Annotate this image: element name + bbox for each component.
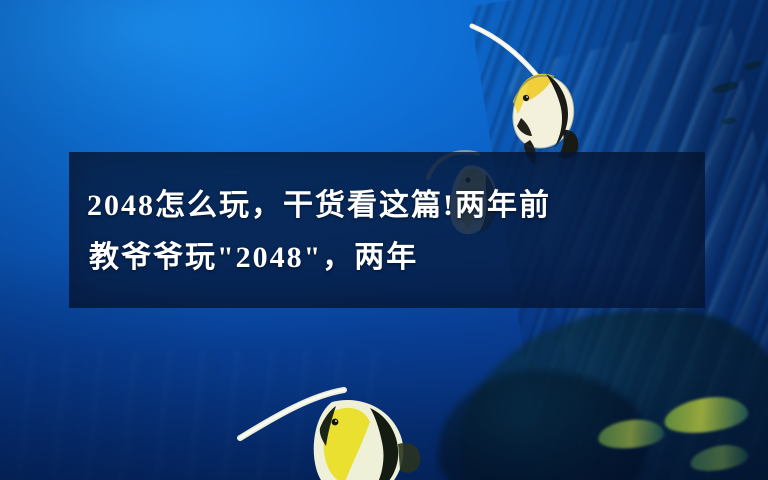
caption-line-2: 教爷爷玩"2048"，两年 (87, 232, 687, 284)
caption-line-1: 2048怎么玩，干货看这篇!两年前 (87, 180, 687, 232)
screenshot-root: 2048怎么玩，干货看这篇!两年前 教爷爷玩"2048"，两年 (0, 0, 768, 480)
caption-overlay-panel: 2048怎么玩，干货看这篇!两年前 教爷爷玩"2048"，两年 (69, 152, 705, 308)
